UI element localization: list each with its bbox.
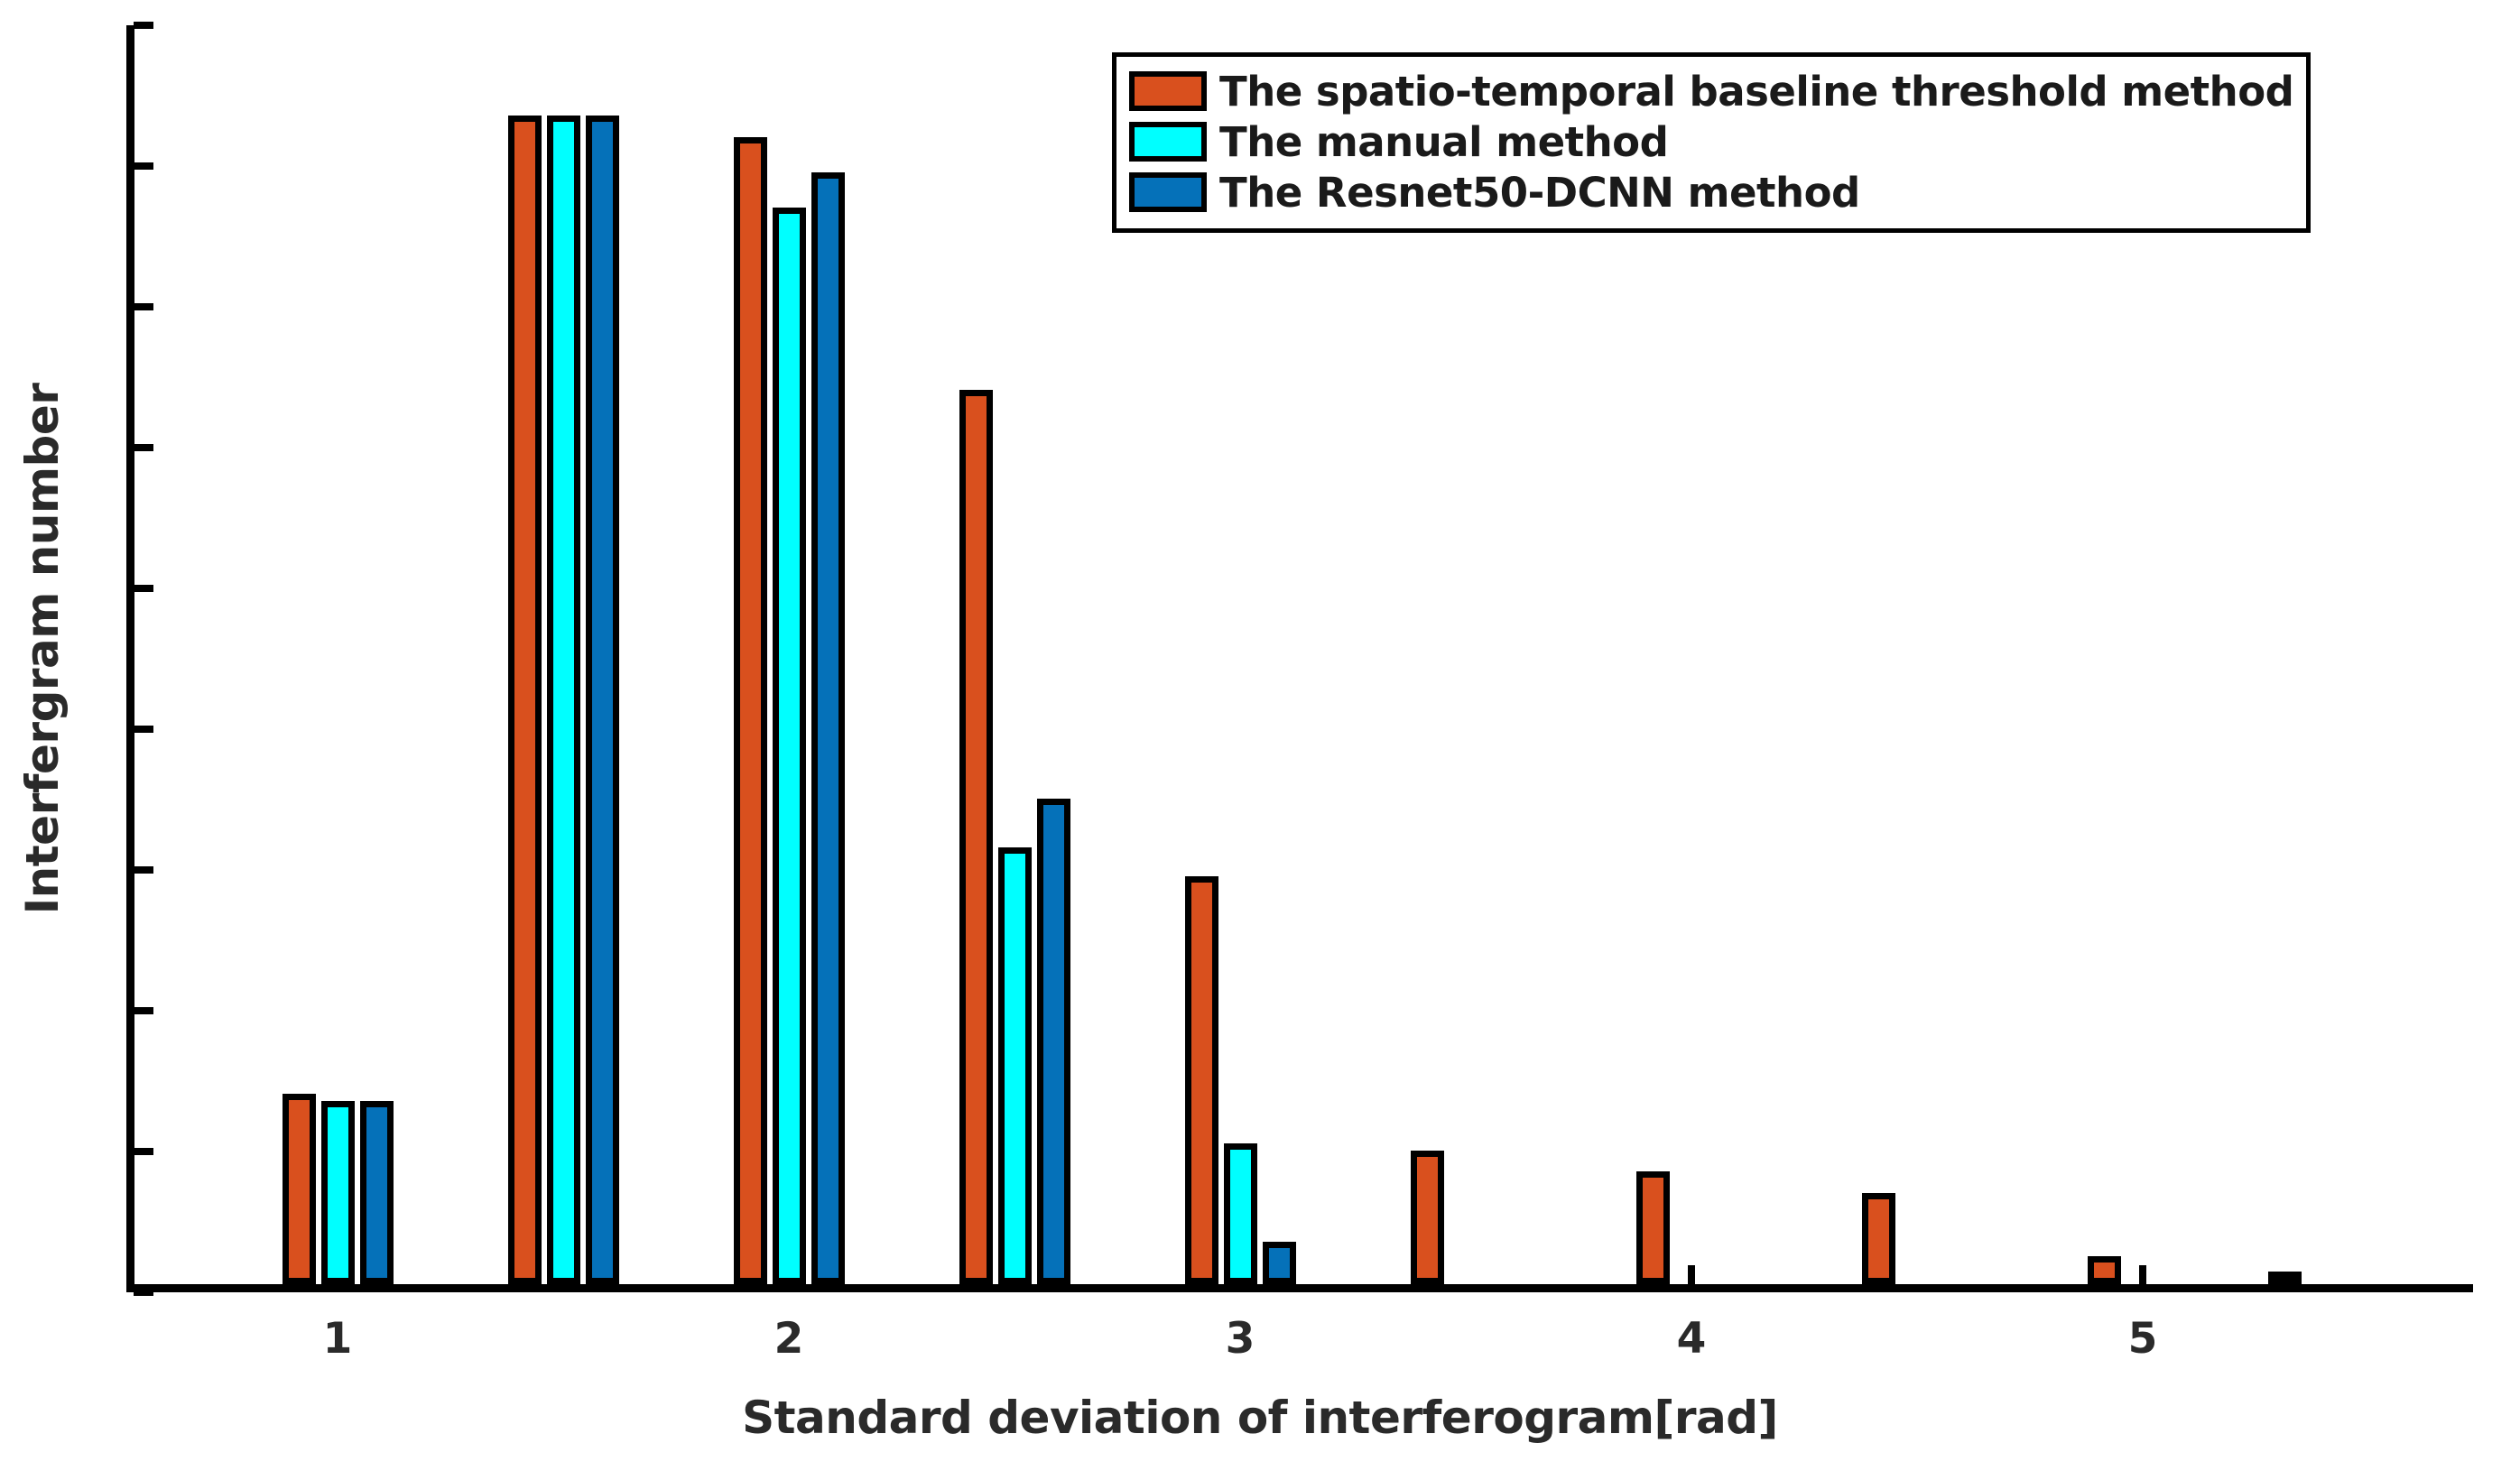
bar: [734, 137, 767, 1284]
bar: [998, 847, 1032, 1284]
bar: [547, 116, 580, 1284]
y-tick-mark: [134, 303, 153, 310]
x-tick-mark: [2139, 1265, 2146, 1285]
y-tick-mark: [134, 22, 153, 29]
legend-item-1[interactable]: The manual method: [1129, 116, 2293, 167]
bar: [773, 208, 806, 1284]
x-tick-mark: [1688, 1265, 1695, 1285]
legend-label-0: The spatio-temporal baseline threshold m…: [1219, 68, 2293, 116]
bar: [1862, 1193, 1895, 1284]
x-tick-label: 1: [274, 1318, 401, 1360]
x-tick-label: 2: [726, 1318, 852, 1360]
legend-swatch-icon-1: [1129, 122, 1207, 162]
bar: [360, 1101, 394, 1284]
y-tick-mark: [134, 726, 153, 733]
y-tick-mark: [134, 444, 153, 451]
bar: [959, 390, 993, 1284]
y-tick-mark: [134, 1007, 153, 1014]
bar: [321, 1101, 355, 1284]
legend-label-1: The manual method: [1219, 118, 1668, 166]
legend-item-2[interactable]: The Resnet50-DCNN method: [1129, 167, 2293, 217]
bar: [1185, 876, 1218, 1284]
y-tick-mark: [134, 585, 153, 592]
x-tick-label: 5: [2080, 1318, 2206, 1360]
bar: [1224, 1143, 1257, 1284]
legend-item-0[interactable]: The spatio-temporal baseline threshold m…: [1129, 66, 2293, 116]
y-tick-mark: [134, 1148, 153, 1155]
x-tick-label: 3: [1177, 1318, 1303, 1360]
x-tick-label: 4: [1628, 1318, 1755, 1360]
y-tick-mark: [134, 162, 153, 170]
bar: [283, 1094, 316, 1284]
y-tick-mark: [134, 1289, 153, 1296]
legend-label-2: The Resnet50-DCNN method: [1219, 169, 1860, 217]
bar: [586, 116, 619, 1284]
y-axis-label: Interfergram number: [16, 288, 69, 1010]
y-tick-mark: [134, 866, 153, 874]
legend: The spatio-temporal baseline threshold m…: [1112, 52, 2311, 233]
bar: [1037, 799, 1070, 1284]
bar: [508, 116, 542, 1284]
bar: [1411, 1151, 1444, 1284]
legend-swatch-icon-2: [1129, 172, 1207, 212]
legend-swatch-icon-0: [1129, 71, 1207, 111]
bar: [2088, 1256, 2121, 1284]
bar: [2268, 1272, 2302, 1284]
bar: [811, 172, 845, 1284]
bar: [1263, 1242, 1296, 1284]
bar: [1636, 1171, 1670, 1284]
bar-chart: Interfergram number 02040608010012014016…: [0, 0, 2520, 1480]
x-axis-label: Standard deviation of interferogram[rad]: [0, 1392, 2520, 1444]
